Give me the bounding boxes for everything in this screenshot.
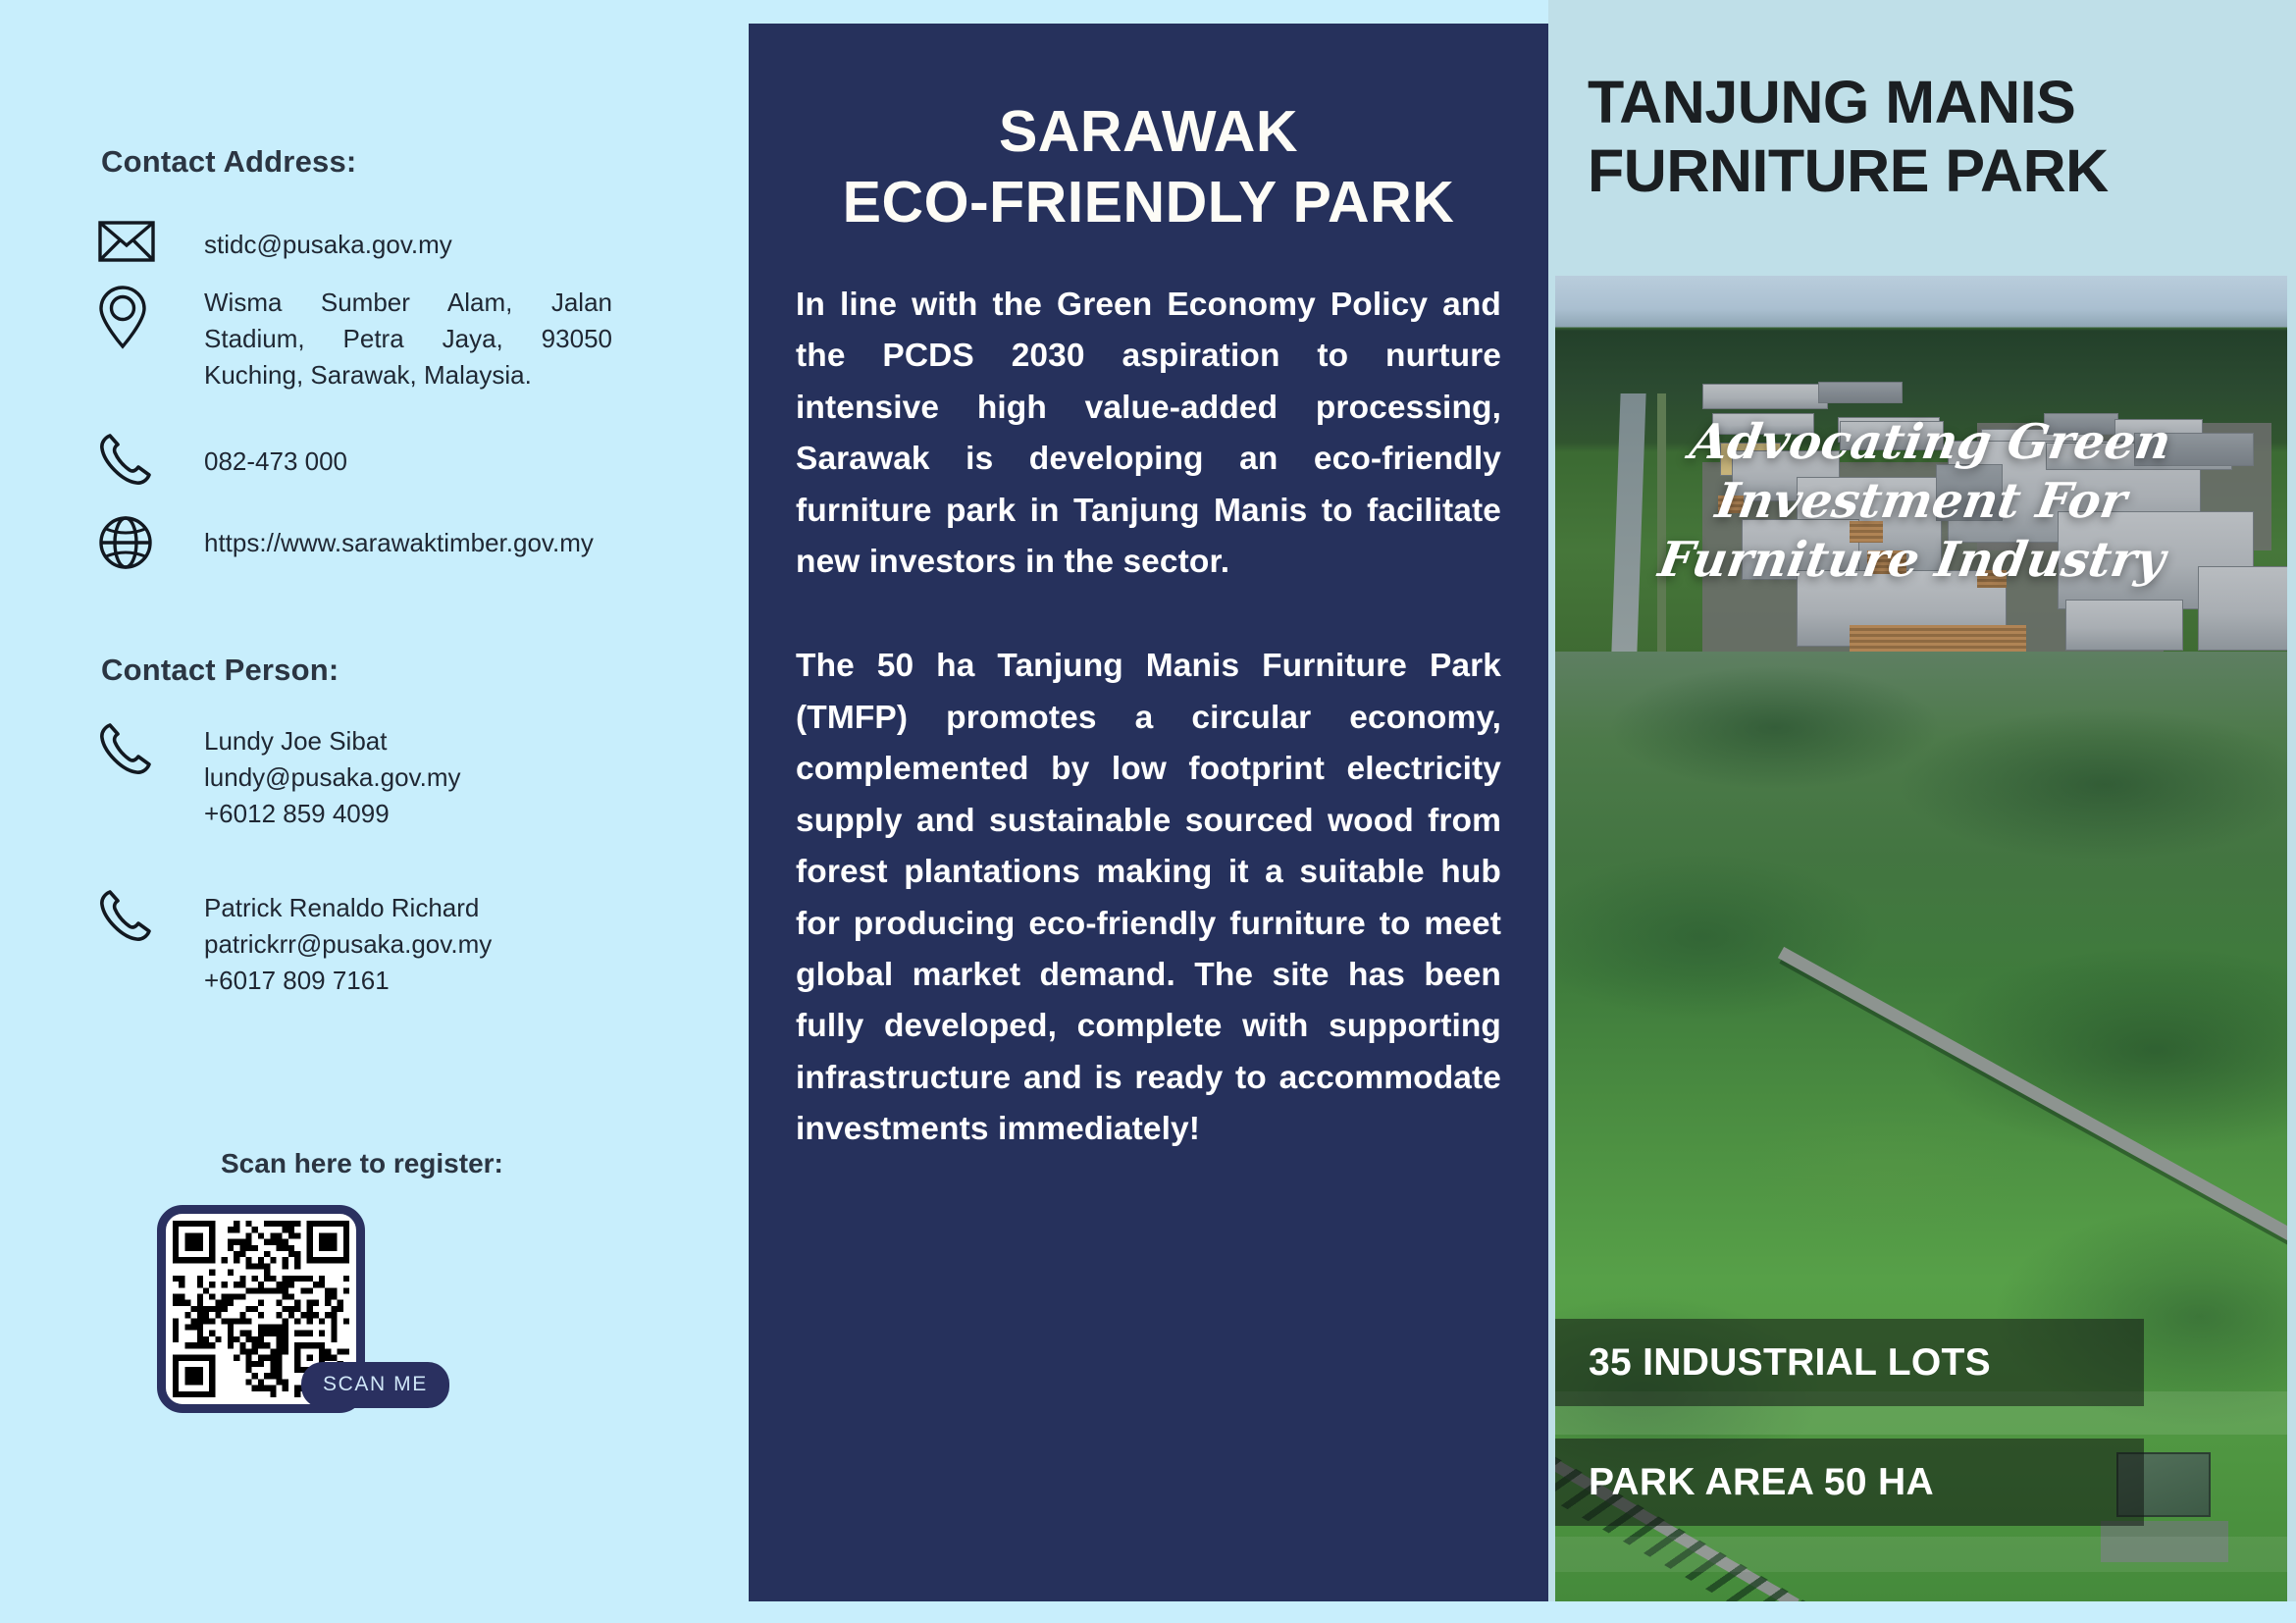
email-value[interactable]: stidc@pusaka.gov.my (161, 221, 452, 263)
phone-icon (98, 721, 161, 776)
tmfp-title-line-1: TANJUNG MANIS (1588, 69, 2075, 135)
warehouse (1818, 382, 1903, 403)
contact-row-website: https://www.sarawaktimber.gov.my (98, 515, 785, 570)
person-2-phone[interactable]: +6017 809 7161 (204, 963, 492, 999)
warehouse (1702, 384, 1828, 409)
warehouse (2065, 600, 2183, 651)
globe-icon (98, 515, 161, 570)
page-title-line-1: SARAWAK (999, 99, 1298, 164)
intro-paragraph: In line with the Green Economy Policy an… (796, 280, 1501, 589)
aerial-photo-collage: Advocating Green Investment For Furnitur… (1555, 276, 2287, 1601)
phone-icon (98, 888, 161, 943)
envelope-icon (98, 221, 161, 262)
page-title-line-2: ECO-FRIENDLY PARK (778, 168, 1519, 238)
contact-row-email: stidc@pusaka.gov.my (98, 221, 687, 263)
contact-row-phone: 082-473 000 (98, 432, 687, 487)
eco-friendly-park-panel: SARAWAK ECO-FRIENDLY PARK In line with t… (749, 24, 1548, 1601)
website-value[interactable]: https://www.sarawaktimber.gov.my (161, 515, 594, 561)
person-2-email[interactable]: patrickrr@pusaka.gov.my (204, 926, 492, 963)
photo-light-band (1555, 1537, 2287, 1572)
details-paragraph: The 50 ha Tanjung Manis Furniture Park (… (796, 641, 1501, 1155)
address-value: Wisma Sumber Alam, Jalan Stadium, Petra … (161, 285, 612, 393)
contact-person-heading: Contact Person: (101, 653, 339, 688)
photo-caption-line-1: Advocating Green Investment For (1687, 413, 2175, 529)
phone-icon (98, 432, 161, 487)
status-badge-industrial-lots: 35 INDUSTRIAL LOTS (1555, 1319, 2144, 1406)
contact-row-address: Wisma Sumber Alam, Jalan Stadium, Petra … (98, 285, 653, 393)
contact-address-heading: Contact Address: (101, 144, 356, 180)
timber-stack (1850, 625, 2026, 652)
person-1-email[interactable]: lundy@pusaka.gov.my (204, 759, 461, 796)
person-1-name: Lundy Joe Sibat (204, 723, 461, 759)
tmfp-title: TANJUNG MANIS FURNITURE PARK (1588, 69, 2274, 205)
contact-person-1: Lundy Joe Sibat lundy@pusaka.gov.my +601… (98, 721, 726, 832)
phone-value[interactable]: 082-473 000 (161, 432, 347, 480)
photo-caption-line-2: Furniture Industry (1555, 531, 2282, 590)
contact-panel: Contact Address: stidc@pusaka.gov.my Wis… (0, 0, 749, 1623)
plantation-road (1778, 947, 2287, 1263)
contact-person-2: Patrick Renaldo Richard patrickrr@pusaka… (98, 888, 726, 999)
status-badge-park-area: PARK AREA 50 HA (1555, 1439, 2144, 1526)
page-title: SARAWAK ECO-FRIENDLY PARK (749, 97, 1548, 238)
person-1-phone[interactable]: +6012 859 4099 (204, 796, 461, 832)
scan-to-register-heading: Scan here to register: (221, 1148, 503, 1179)
location-pin-icon (98, 285, 161, 349)
tmfp-title-line-2: FURNITURE PARK (1588, 137, 2274, 206)
scan-me-badge: SCAN ME (301, 1362, 449, 1408)
brochure-page: Contact Address: stidc@pusaka.gov.my Wis… (0, 0, 2296, 1623)
photo-caption: Advocating Green Investment For Furnitur… (1555, 413, 2287, 589)
person-2-name: Patrick Renaldo Richard (204, 890, 492, 926)
